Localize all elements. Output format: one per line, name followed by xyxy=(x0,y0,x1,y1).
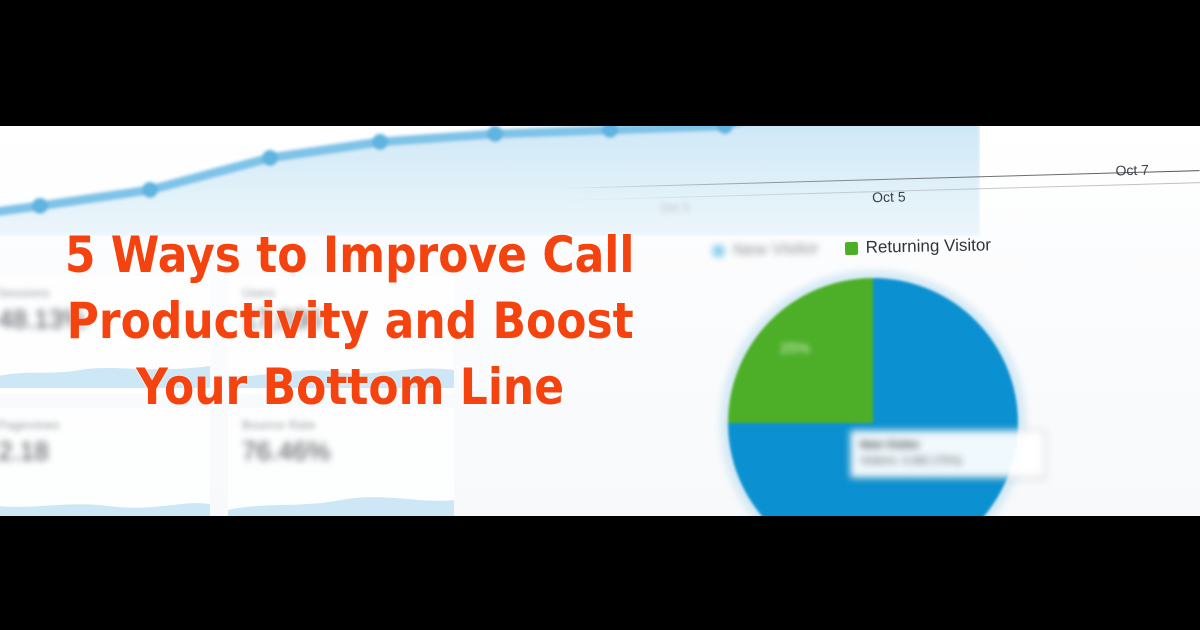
metric-cards-panel: Sessions 48.13% Users 17,036 Pageviews 2… xyxy=(0,276,454,516)
axis-line xyxy=(560,170,1200,189)
axis-tick-oct5: Oct 5 xyxy=(872,188,906,205)
pie-tooltip-title: New Visitor xyxy=(860,438,1035,454)
dashboard-background-photo: Oct 3 Oct 5 Oct 7 New Visitor Returning … xyxy=(0,126,1200,516)
axis-tick-oct7: Oct 7 xyxy=(1115,162,1149,179)
metric-sparkline xyxy=(228,486,454,516)
pie-tooltip: New Visitor Visitors: 3,482 (75%) xyxy=(850,430,1045,478)
metric-label: Sessions xyxy=(0,286,196,300)
legend-label-returning-visitor: Returning Visitor xyxy=(865,235,991,257)
letterbox-top xyxy=(0,0,1200,126)
legend-label-new-visitor: New Visitor xyxy=(733,239,819,261)
axis-tick-oct3: Oct 3 xyxy=(660,200,689,215)
legend-item-returning-visitor[interactable]: Returning Visitor xyxy=(844,235,991,258)
legend-swatch-green-icon xyxy=(845,241,858,254)
metric-value: 17,036 xyxy=(242,304,440,335)
metric-sparkline xyxy=(0,486,210,516)
promo-banner: Oct 3 Oct 5 Oct 7 New Visitor Returning … xyxy=(0,0,1200,630)
metric-sparkline xyxy=(228,354,454,388)
metric-value: 2.18 xyxy=(0,436,196,467)
metric-label: Users xyxy=(242,286,440,300)
metric-value: 48.13% xyxy=(0,304,196,335)
legend-swatch-blue-icon xyxy=(712,244,725,257)
metric-label: Pageviews xyxy=(0,418,196,432)
pie-chart-legend: New Visitor Returning Visitor xyxy=(712,235,991,260)
metric-card[interactable]: Bounce Rate 76.46% xyxy=(228,408,454,516)
metric-value: 76.46% xyxy=(242,436,440,467)
metric-card[interactable]: Sessions 48.13% xyxy=(0,276,210,394)
letterbox-bottom xyxy=(0,516,1200,630)
metric-card[interactable]: Users 17,036 xyxy=(228,276,454,394)
pie-slice-label-returning: 25% xyxy=(780,340,810,357)
metric-label: Bounce Rate xyxy=(242,418,440,432)
legend-item-new-visitor[interactable]: New Visitor xyxy=(712,239,819,261)
visitor-type-pie-chart: 25% New Visitor Visitors: 3,482 (75%) xyxy=(728,278,1018,516)
metric-sparkline xyxy=(0,354,210,388)
metric-card[interactable]: Pageviews 2.18 xyxy=(0,408,210,516)
pie-tooltip-value: Visitors: 3,482 (75%) xyxy=(860,454,1035,470)
